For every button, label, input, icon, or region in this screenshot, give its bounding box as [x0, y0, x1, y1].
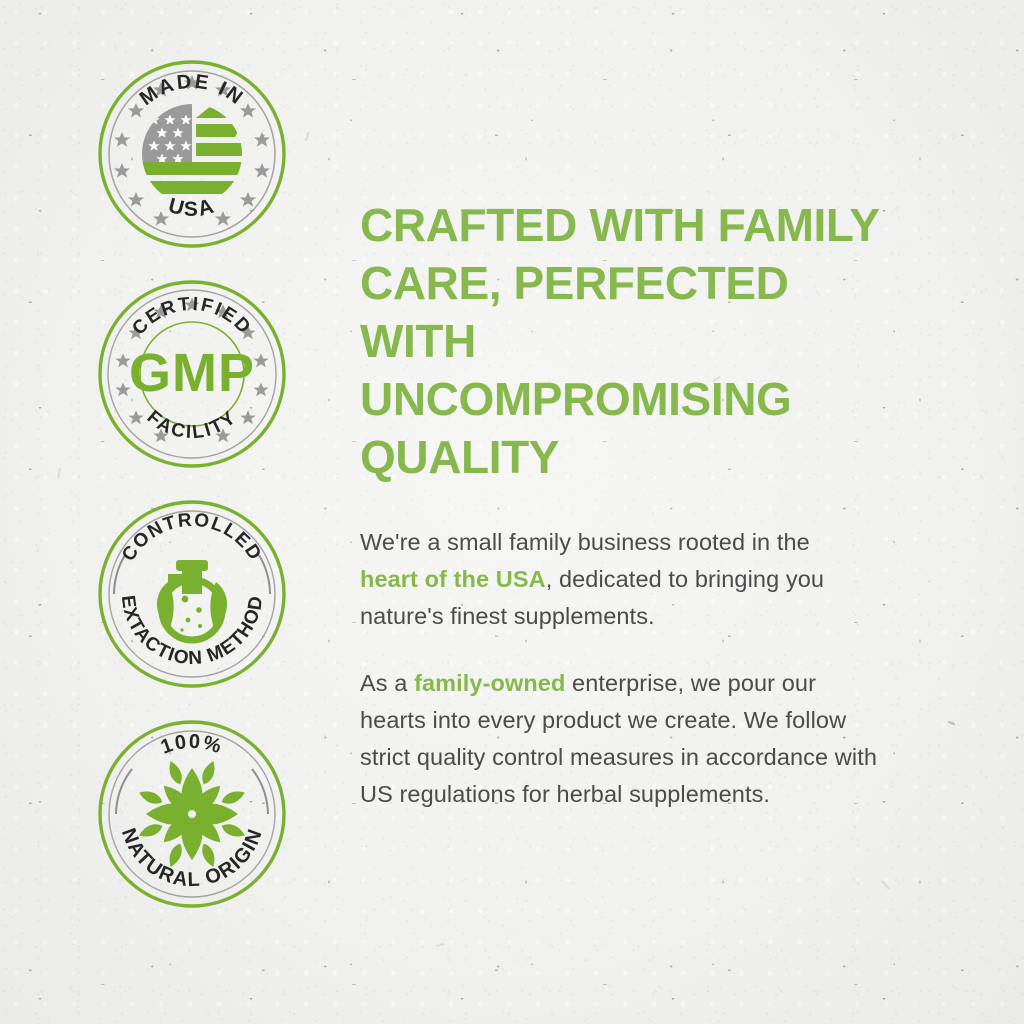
badge-bottom-label: USA [166, 194, 218, 221]
page-title: Crafted With Family Care, Perfected With… [360, 196, 916, 486]
paper-fiber [881, 880, 890, 890]
leaf-rosette-icon [137, 759, 247, 869]
paragraph-quality-control: As a family-owned enterprise, we pour ou… [360, 665, 880, 813]
badge-made-in-usa: MADE IN USA [96, 58, 288, 250]
badge-controlled-extraction-method: CONTROLLED EXTACTION METHOD [96, 498, 288, 690]
badge-top-label: MADE IN [136, 71, 249, 111]
lab-flask-leaf-icon [157, 560, 227, 640]
emphasis-text: family-owned [414, 670, 565, 696]
body-copy: We're a small family business rooted in … [360, 524, 880, 813]
paper-fiber [305, 132, 309, 141]
body-text: We're a small family business rooted in … [360, 529, 810, 555]
trust-badge-column: MADE IN USA [96, 58, 292, 938]
gmp-wordmark-icon: GMP [129, 343, 255, 403]
badge-gmp-certified-facility: GMP CERTIFIED FACILITY [96, 278, 288, 470]
paper-fiber [948, 721, 955, 725]
paper-fiber [436, 943, 444, 947]
badge-top-label: 100% [158, 731, 225, 759]
content-column: Crafted With Family Care, Perfected With… [360, 196, 920, 813]
emphasis-text: heart of the USA [360, 566, 546, 592]
infographic-panel: MADE IN USA [0, 0, 1024, 1024]
paper-fiber [57, 468, 61, 479]
paragraph-about-family-business: We're a small family business rooted in … [360, 524, 830, 635]
usa-flag-roundel-icon [140, 104, 248, 194]
body-text: As a [360, 670, 414, 696]
badge-natural-origin: 100% NATURAL ORIGIN [96, 718, 288, 910]
